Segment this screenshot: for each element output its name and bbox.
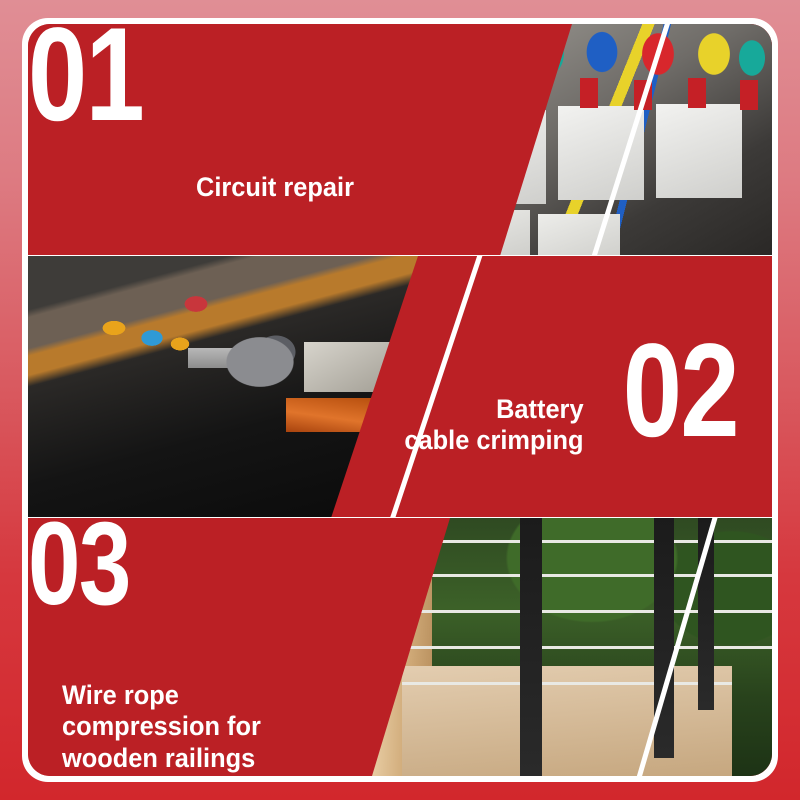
panel-03[interactable]: 03 Wire rope compression for wooden rail… [28, 518, 772, 776]
panel-02-number: 02 [623, 340, 738, 444]
car-battery-terminal-photo [28, 256, 488, 518]
panel-01-number: 01 [28, 24, 623, 128]
panel-01-caption: Circuit repair [196, 172, 354, 203]
poster-root: 01 Circuit repair 02 Battery cable crimp… [0, 0, 800, 800]
panel-01[interactable]: 01 Circuit repair [28, 24, 772, 256]
panel-03-number: 03 [28, 518, 623, 610]
panel-02-caption: Battery cable crimping [405, 394, 584, 457]
feature-card: 01 Circuit repair 02 Battery cable crimp… [28, 24, 772, 776]
panel-02[interactable]: 02 Battery cable crimping [28, 256, 772, 518]
panel-03-caption: Wire rope compression for wooden railing… [62, 680, 261, 774]
